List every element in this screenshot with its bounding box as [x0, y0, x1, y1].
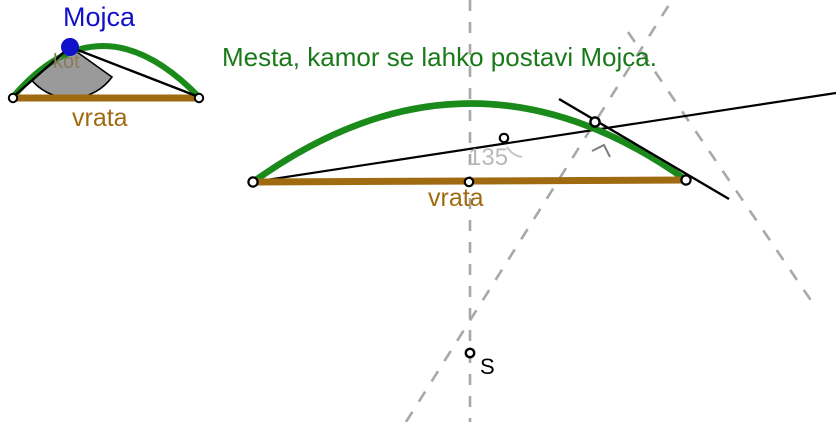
inset-figure-group [9, 39, 203, 103]
label-point-s: S [480, 356, 495, 378]
label-vrata-main: vrata [428, 186, 484, 211]
point-on-ray[interactable] [500, 134, 508, 142]
inset-endpoint-left[interactable] [9, 94, 17, 102]
label-angle-135: 135 [468, 146, 508, 170]
dashed-diagonal-down-right [628, 32, 812, 302]
label-mojca: Mojca [63, 4, 135, 31]
right-angle-marker [592, 145, 610, 157]
label-kot: kot [53, 52, 80, 72]
line-from-left-endpoint [253, 93, 836, 182]
main-endpoint-left[interactable] [248, 177, 257, 186]
page-title: Mesta, kamor se lahko postavi Mojca. [222, 44, 657, 70]
geometry-canvas: Mojca kot vrata Mesta, kamor se lahko po… [0, 0, 836, 422]
point-on-arc[interactable] [590, 117, 599, 126]
inset-endpoint-right[interactable] [195, 94, 203, 102]
main-figure-group [248, 93, 836, 357]
label-vrata-inset: vrata [72, 106, 128, 131]
main-endpoint-right[interactable] [681, 175, 690, 184]
point-center-s[interactable] [466, 349, 474, 357]
angle-arc-135 [507, 147, 522, 157]
